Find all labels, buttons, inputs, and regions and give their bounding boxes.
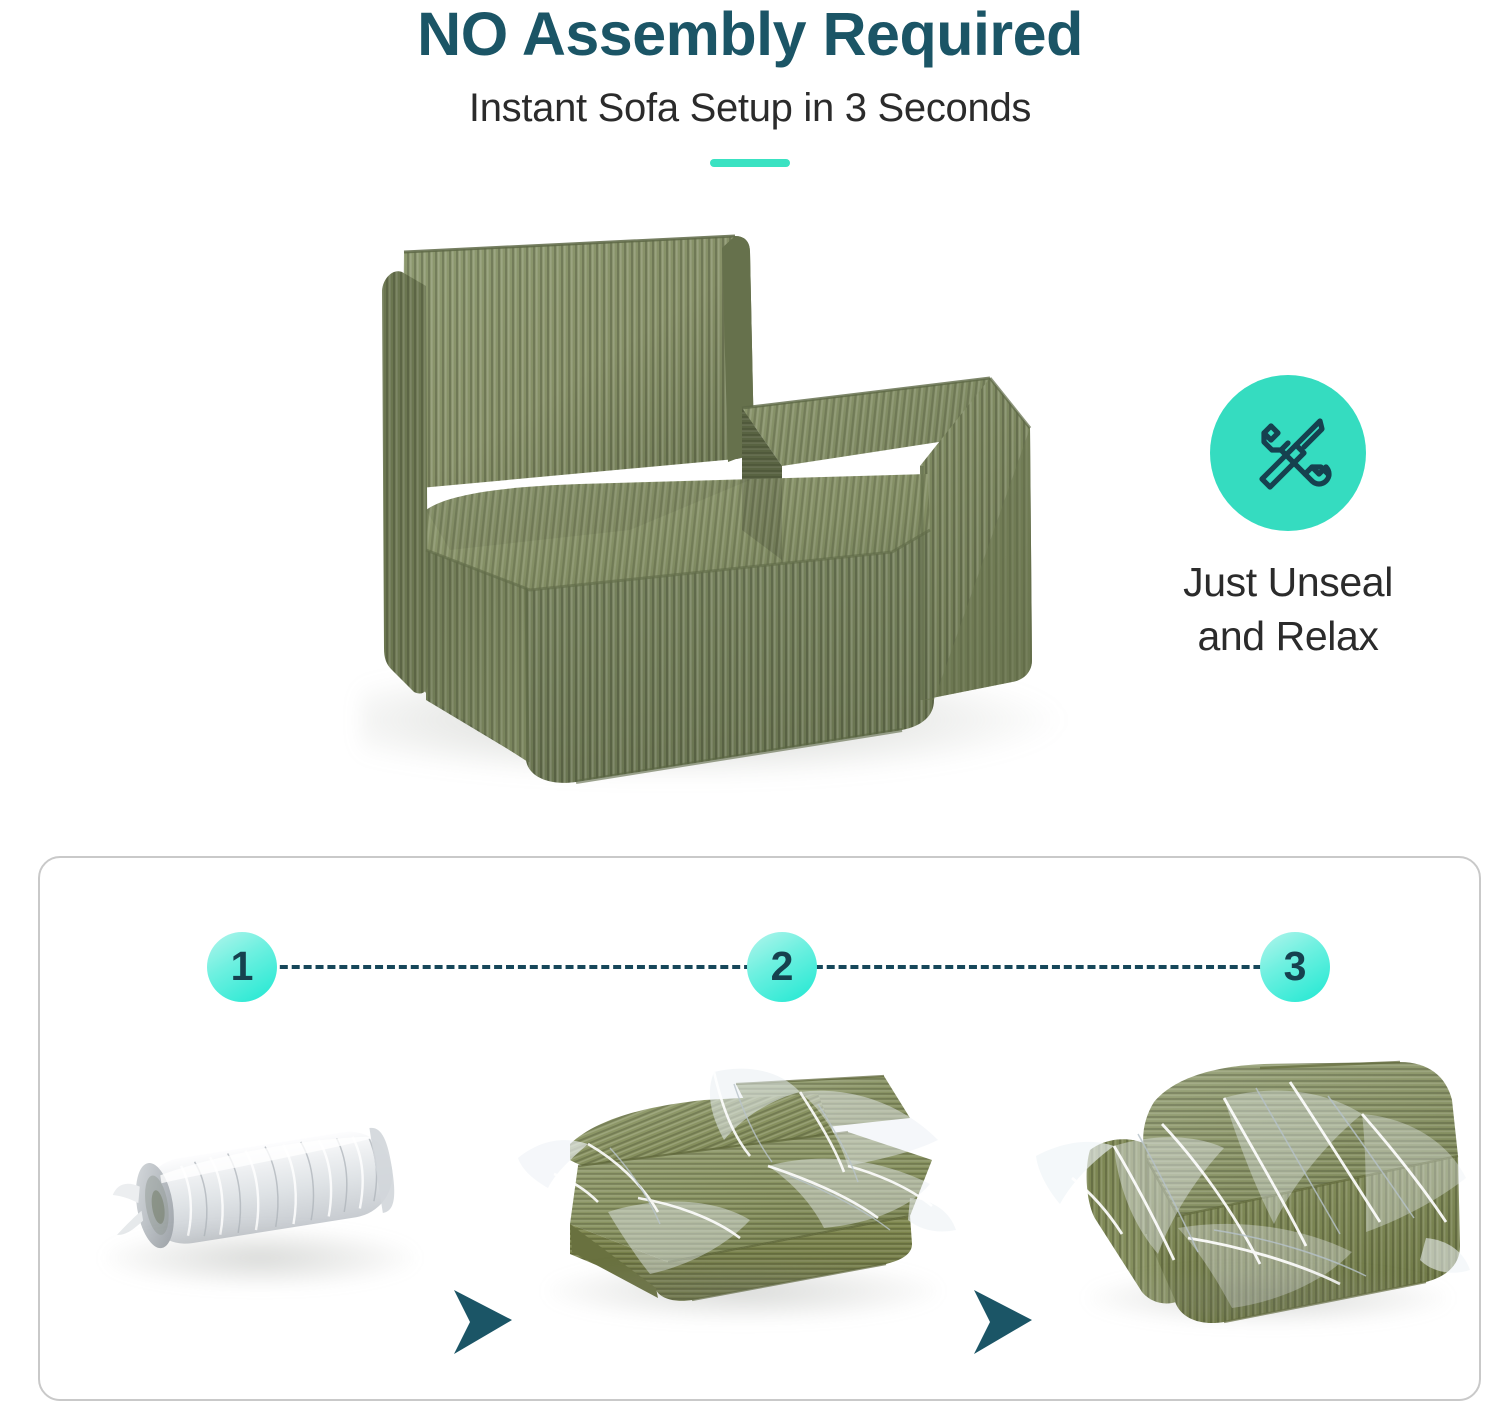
armchair-illustration bbox=[330, 230, 1130, 810]
page-subtitle: Instant Sofa Setup in 3 Seconds bbox=[0, 66, 1500, 130]
badge-circle bbox=[1210, 375, 1366, 531]
connector-2-3 bbox=[803, 965, 1297, 969]
step-arrow-2 bbox=[970, 1286, 1036, 1358]
badge-label: Just Unseal and Relax bbox=[1128, 531, 1448, 663]
step-marker-1: 1 bbox=[207, 932, 277, 1002]
page-title: NO Assembly Required bbox=[0, 0, 1500, 66]
step-number-3: 3 bbox=[1284, 946, 1307, 987]
product-image bbox=[330, 230, 1130, 810]
feature-badge: Just Unseal and Relax bbox=[1128, 375, 1448, 663]
step-image-3 bbox=[1028, 1038, 1478, 1338]
step-arrow-1 bbox=[450, 1286, 516, 1358]
setup-steps-panel: 1 2 3 bbox=[38, 856, 1481, 1401]
connector-1-2 bbox=[256, 965, 764, 969]
step-2-shadow bbox=[548, 1260, 938, 1322]
step-image-1 bbox=[95, 1098, 425, 1298]
accent-divider bbox=[710, 159, 790, 167]
steps-timeline: 1 2 3 bbox=[40, 858, 1483, 1038]
step-1-shadow bbox=[105, 1228, 415, 1288]
step-3-shadow bbox=[1088, 1270, 1448, 1326]
header: NO Assembly Required Instant Sofa Setup … bbox=[0, 0, 1500, 167]
steps-images bbox=[40, 1038, 1483, 1401]
step-image-2 bbox=[518, 1048, 958, 1338]
step-number-2: 2 bbox=[771, 946, 794, 987]
step-marker-2: 2 bbox=[747, 932, 817, 1002]
step-marker-3: 3 bbox=[1260, 932, 1330, 1002]
hero-section: Just Unseal and Relax bbox=[0, 195, 1500, 835]
step-number-1: 1 bbox=[231, 946, 254, 987]
wrench-screwdriver-icon bbox=[1242, 407, 1334, 499]
